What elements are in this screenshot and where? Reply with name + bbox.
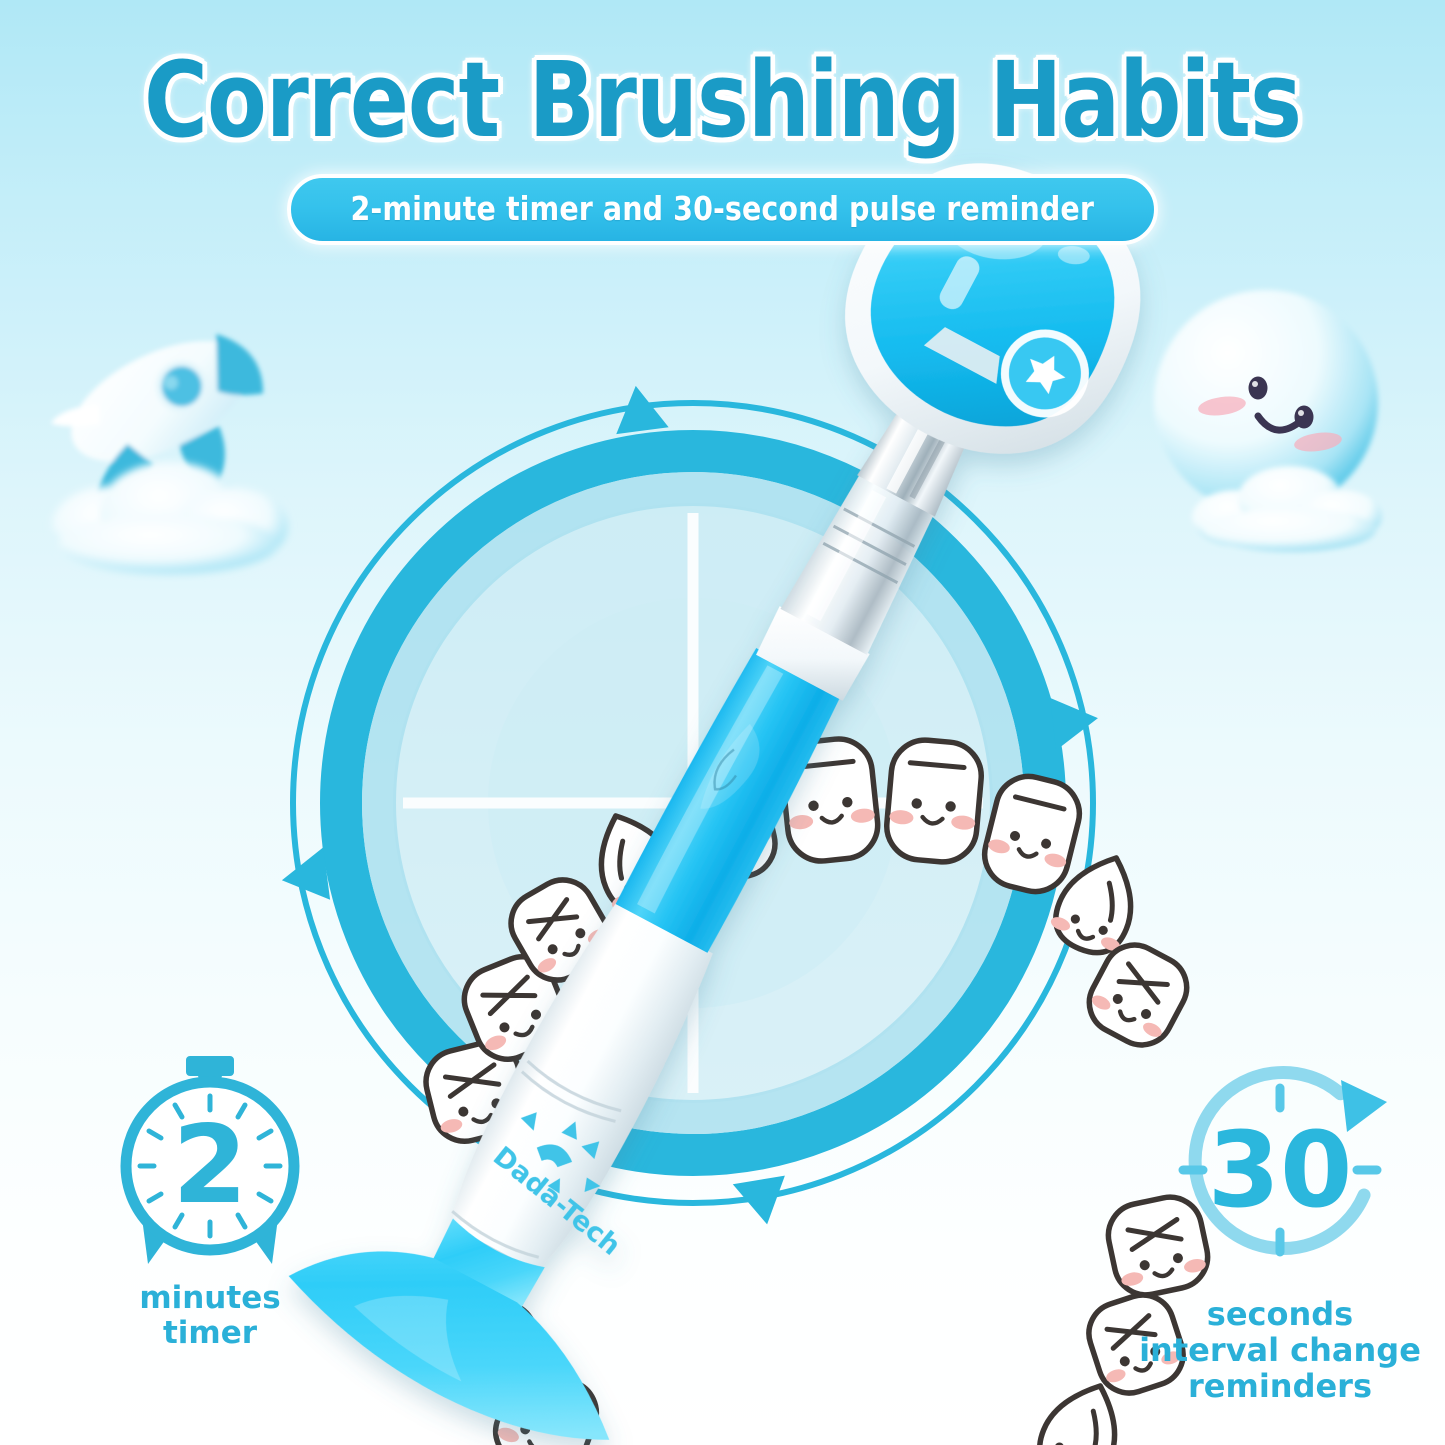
badge-interval-caption: seconds interval change reminders [1120, 1296, 1440, 1404]
alarm-clock-icon: 2 [90, 1050, 330, 1275]
badge-timer: 2 minutes timer [60, 1050, 360, 1352]
badge-timer-caption-line2: timer [60, 1316, 360, 1351]
badge-interval-caption-line1: seconds [1120, 1296, 1440, 1332]
header: Correct Brushing Habits 2-minute timer a… [0, 0, 1445, 245]
moon-decoration [1118, 276, 1428, 566]
badge-timer-caption: minutes timer [60, 1281, 360, 1352]
badge-interval-number: 30 [1208, 1109, 1353, 1231]
page-title: Correct Brushing Habits [51, 0, 1395, 152]
badge-interval-caption-line3: reminders [1120, 1368, 1440, 1404]
subtitle-pill: 2-minute timer and 30-second pulse remin… [287, 174, 1157, 245]
rocket-decoration [18, 272, 318, 582]
badge-interval: 30 seconds interval change reminders [1120, 1060, 1440, 1404]
badge-timer-caption-line1: minutes [60, 1281, 360, 1316]
badge-interval-caption-line2: interval change [1120, 1332, 1440, 1368]
circular-arrow-timer-icon: 30 [1155, 1060, 1405, 1290]
subtitle-text: 2-minute timer and 30-second pulse remin… [351, 189, 1094, 228]
badge-timer-number: 2 [172, 1103, 247, 1228]
promo-banner: Correct Brushing Habits 2-minute timer a… [0, 0, 1445, 1445]
electric-toothbrush-product: Dada-Tech [300, 250, 1120, 1440]
